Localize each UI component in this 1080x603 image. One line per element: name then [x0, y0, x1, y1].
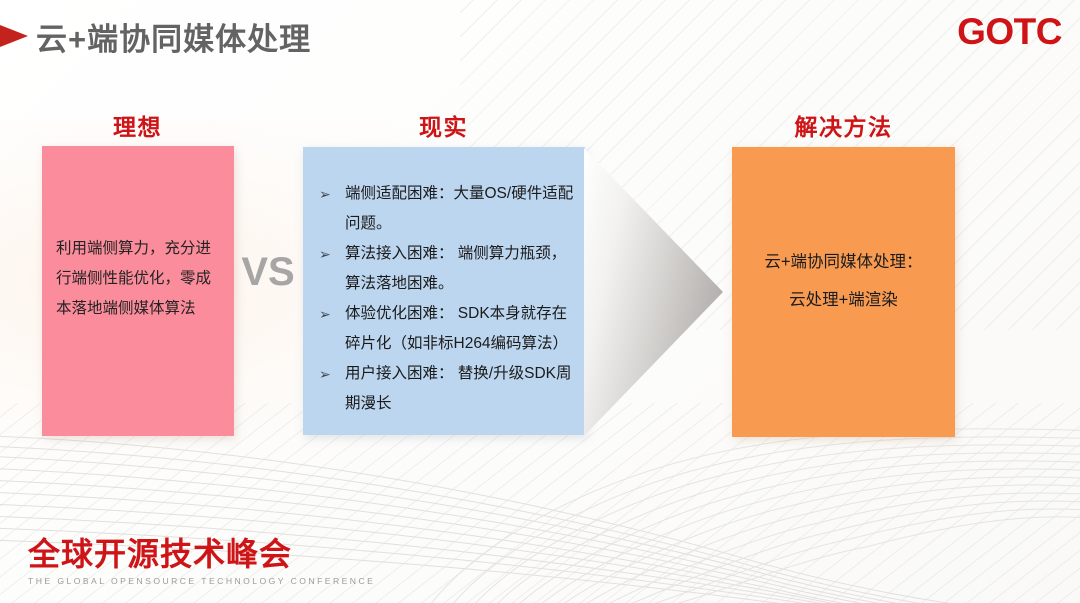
- list-item-text: 端侧适配困难：大量OS/硬件适配问题。: [345, 185, 573, 232]
- list-item: ➢ 体验优化困难： SDK本身就存在碎片化（如非标H264编码算法）: [317, 299, 575, 359]
- list-item: ➢ 算法接入困难： 端侧算力瓶颈，算法落地困难。: [317, 239, 575, 299]
- card-solution-text: 云+端协同媒体处理： 云处理+端渲染: [742, 243, 945, 319]
- page-title: 云+端协同媒体处理: [36, 14, 311, 59]
- card-ideal-text: 利用端侧算力，充分进行端侧性能优化，零成本落地端侧媒体算法: [56, 234, 224, 324]
- list-item-text: 体验优化困难： SDK本身就存在碎片化（如非标H264编码算法）: [345, 305, 568, 352]
- red-triangle-icon: [0, 21, 28, 51]
- card-reality: ➢ 端侧适配困难：大量OS/硬件适配问题。 ➢ 算法接入困难： 端侧算力瓶颈，算…: [303, 147, 585, 435]
- footer-conference-logo: 全球开源技术峰会 THE GLOBAL OPENSOURCE TECHNOLOG…: [28, 538, 308, 586]
- list-item-text: 算法接入困难： 端侧算力瓶颈，算法落地困难。: [345, 245, 566, 292]
- gotc-logo: GOTC: [957, 13, 1062, 50]
- column-heading-ideal: 理想: [42, 108, 233, 142]
- slide-canvas: 云+端协同媒体处理 GOTC 理想 现实 解决方法 利用端侧算力，充分进行端侧性…: [0, 0, 1080, 603]
- chevron-bullet-icon: ➢: [319, 299, 331, 329]
- right-chevron-arrow-icon: [584, 147, 726, 437]
- card-ideal: 利用端侧算力，充分进行端侧性能优化，零成本落地端侧媒体算法: [42, 146, 234, 436]
- column-heading-reality: 现实: [303, 108, 584, 142]
- list-item: ➢ 端侧适配困难：大量OS/硬件适配问题。: [317, 179, 575, 239]
- column-heading-solution: 解决方法: [732, 108, 955, 142]
- card-solution: 云+端协同媒体处理： 云处理+端渲染: [732, 147, 955, 437]
- footer-title-cn: 全球开源技术峰会: [28, 538, 308, 572]
- chevron-bullet-icon: ➢: [319, 359, 331, 389]
- chevron-bullet-icon: ➢: [319, 179, 331, 209]
- card-solution-line1: 云+端协同媒体处理：: [742, 243, 945, 281]
- list-item: ➢ 用户接入困难： 替换/升级SDK周期漫长: [317, 359, 575, 419]
- vs-label: VS: [232, 252, 304, 292]
- card-solution-line2: 云处理+端渲染: [742, 281, 945, 319]
- footer-title-en: THE GLOBAL OPENSOURCE TECHNOLOGY CONFERE…: [28, 576, 308, 586]
- list-item-text: 用户接入困难： 替换/升级SDK周期漫长: [345, 365, 571, 412]
- reality-bullet-list: ➢ 端侧适配困难：大量OS/硬件适配问题。 ➢ 算法接入困难： 端侧算力瓶颈，算…: [317, 179, 575, 419]
- chevron-bullet-icon: ➢: [319, 239, 331, 269]
